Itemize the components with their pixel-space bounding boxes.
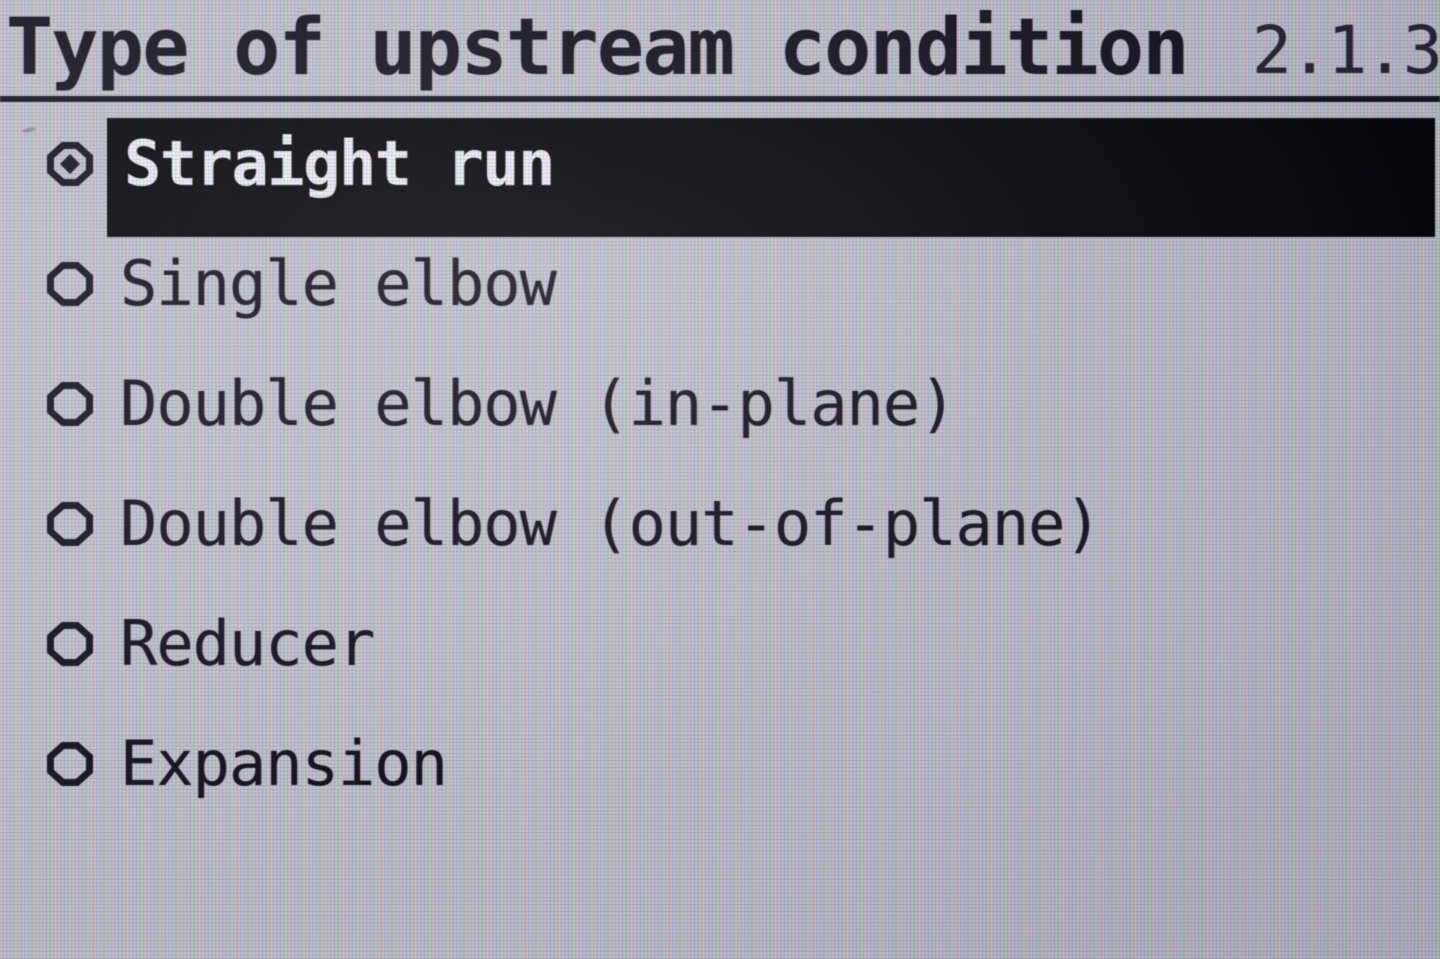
radio-option-single-elbow[interactable]: Single elbow <box>0 224 1440 344</box>
menu-index-number: 2.1.3.1 <box>1252 12 1440 90</box>
radio-unselected-icon[interactable] <box>47 502 93 546</box>
upstream-condition-radio-group[interactable]: Straight run Single elbow Double elbow (… <box>0 104 1440 824</box>
radio-option-reducer[interactable]: Reducer <box>0 584 1440 704</box>
radio-option-double-elbow-out-of-plane[interactable]: Double elbow (out-of-plane) <box>0 464 1440 584</box>
page-title: Type of upstream condition <box>6 2 1188 94</box>
radio-unselected-icon[interactable] <box>47 742 93 786</box>
radio-unselected-icon[interactable] <box>47 382 93 426</box>
radio-option-label: Double elbow (out-of-plane) <box>120 489 1101 559</box>
radio-unselected-icon[interactable] <box>47 622 93 666</box>
radio-option-straight-run[interactable]: Straight run <box>0 104 1440 224</box>
header-divider <box>0 96 1440 102</box>
radio-option-label: Double elbow (in-plane) <box>120 369 956 439</box>
radio-option-label: Single elbow <box>120 249 556 319</box>
radio-option-label: Expansion <box>120 729 447 799</box>
radio-option-label: Straight run <box>124 129 554 199</box>
radio-option-expansion[interactable]: Expansion <box>0 704 1440 824</box>
radio-option-label: Reducer <box>120 609 374 679</box>
screen-header: Type of upstream condition 2.1.3.1 <box>0 0 1440 104</box>
radio-unselected-icon[interactable] <box>47 262 93 306</box>
device-lcd-screen: Type of upstream condition 2.1.3.1 Strai… <box>0 0 1440 959</box>
radio-selected-icon[interactable] <box>47 142 93 186</box>
radio-option-double-elbow-in-plane[interactable]: Double elbow (in-plane) <box>0 344 1440 464</box>
